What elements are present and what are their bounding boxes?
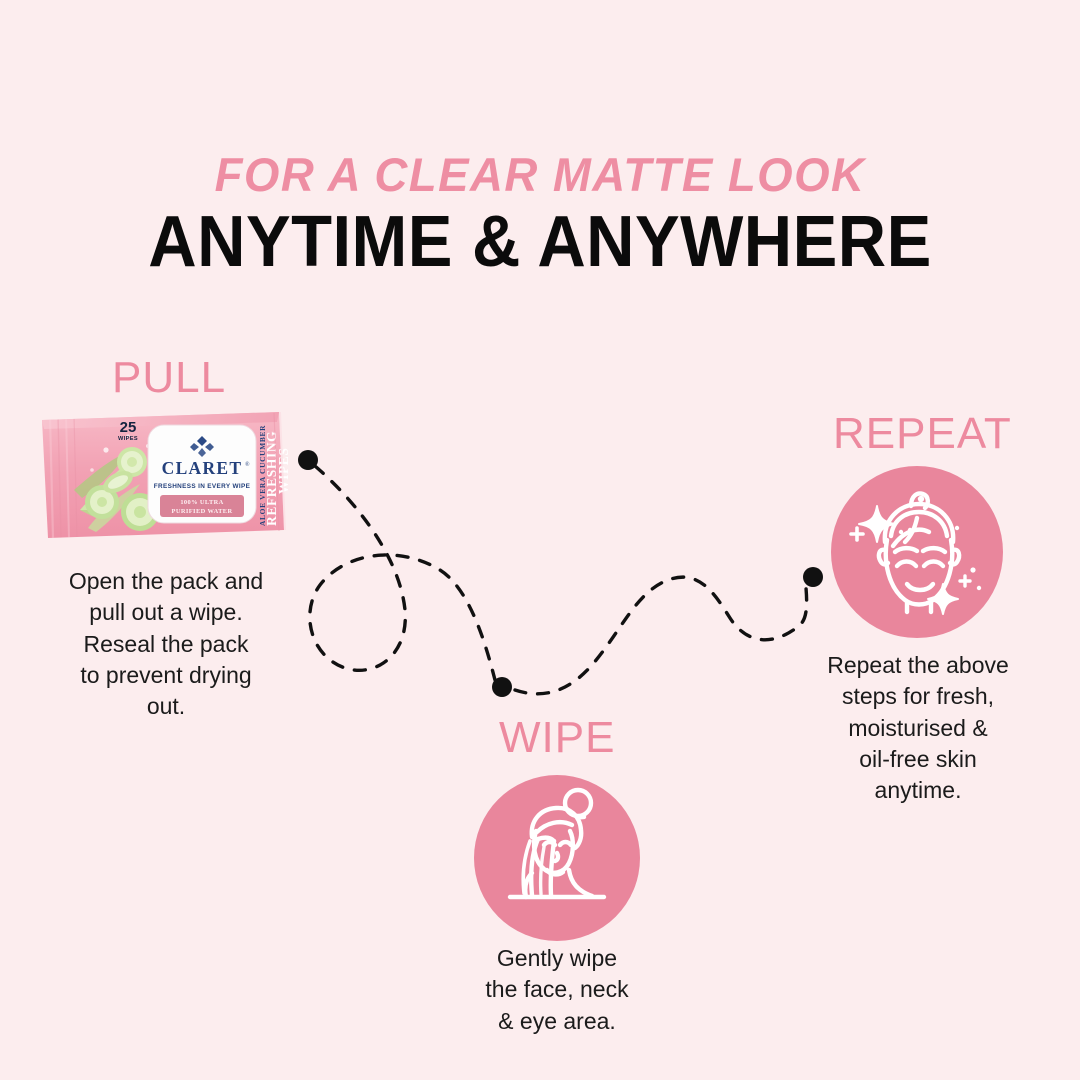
woman-wiping-face-icon [510,790,604,897]
connector-dot-repeat [803,567,823,587]
step-label-pull: PULL [112,353,226,403]
step-label-wipe: WIPE [499,713,615,763]
package-count-number: 25 [120,419,137,436]
page-title: ANYTIME & ANYWHERE [38,205,1042,281]
step-caption-wipe: Gently wipe the face, neck & eye area. [463,943,651,1037]
headline-subtitle: FOR A CLEAR MATTE LOOK [16,150,1064,199]
headline-block: FOR A CLEAR MATTE LOOK ANYTIME & ANYWHER… [0,150,1080,281]
wipe-icon-circle [474,775,640,941]
product-package-image: CLARET ® FRESHNESS IN EVERY WIPE 100% UL… [36,398,288,548]
package-brand-mark: ® [245,461,250,468]
connector-dot-wipe [492,677,512,697]
infographic-canvas: FOR A CLEAR MATTE LOOK ANYTIME & ANYWHER… [0,0,1080,1080]
repeat-icon-circle [831,466,1003,638]
package-claim-line-2: PURIFIED WATER [172,508,233,515]
path-segment-wipe-to-repeat [515,577,807,694]
glowing-face-icon [851,494,981,615]
package-brand-name: CLARET [162,458,243,478]
path-segment-pull-to-wipe [310,466,495,680]
package-tagline: FRESHNESS IN EVERY WIPE [154,483,251,490]
step-caption-pull: Open the pack and pull out a wipe. Resea… [46,566,286,722]
package-count-unit: WIPES [118,436,138,442]
step-label-repeat: REPEAT [833,409,1012,459]
step-caption-repeat: Repeat the above steps for fresh, moistu… [812,650,1024,806]
connector-dot-pull [298,450,318,470]
package-claim-line-1: 100% ULTRA [180,499,223,506]
